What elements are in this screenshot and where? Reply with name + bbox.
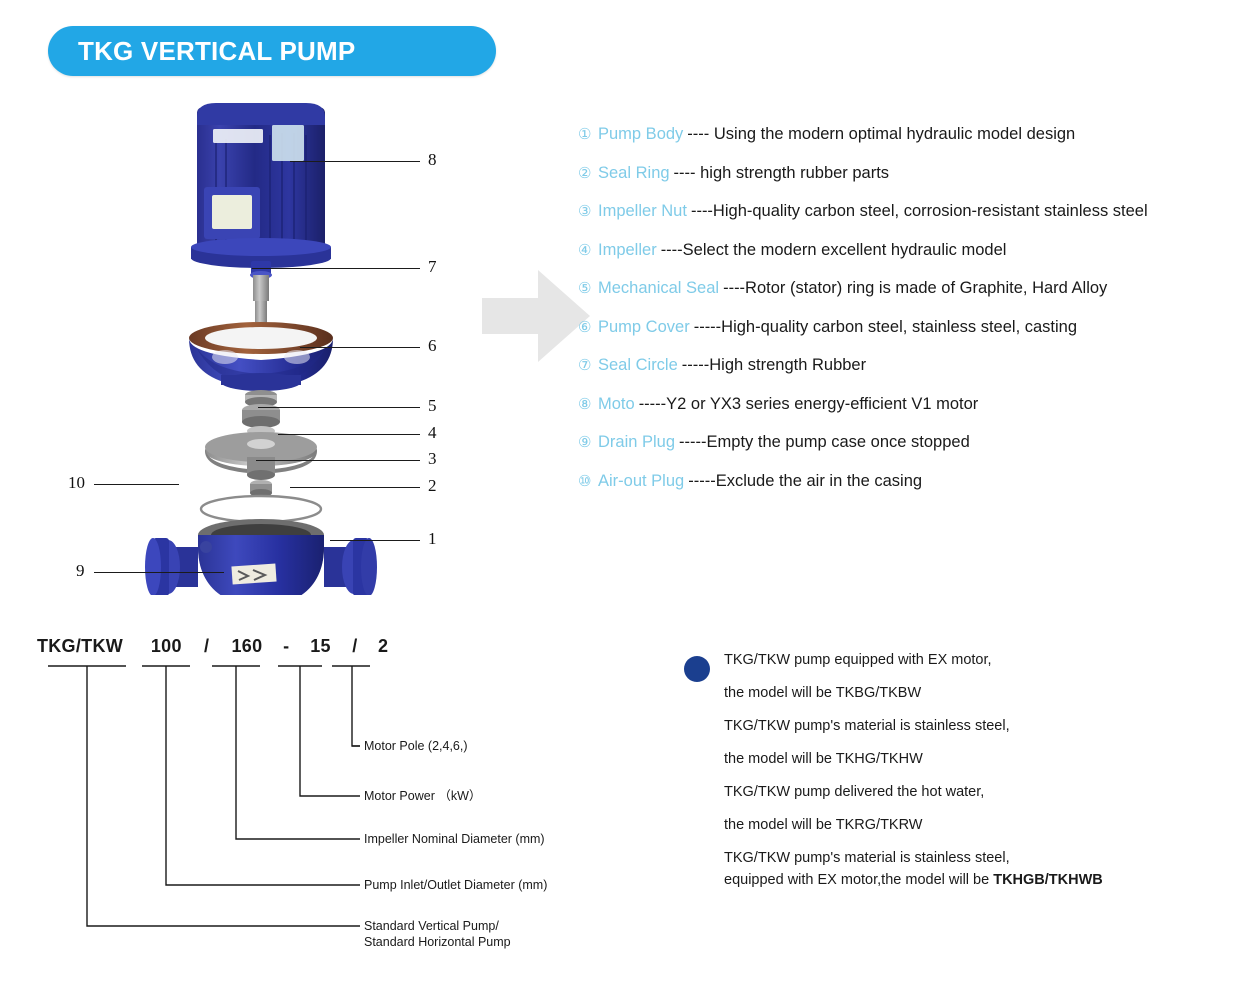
pump-cover-part [189, 322, 333, 391]
note-line-2: the model will be TKBG/TKBW [724, 685, 1214, 701]
note-line-3: TKG/TKW pump's material is stainless ste… [724, 718, 1214, 734]
callout-leader-10 [94, 484, 179, 485]
legend-item-7: ⑦ Seal Circle -----High strength Rubber [578, 355, 1218, 376]
model-desc-motor-power: Motor Power （kW） [364, 788, 481, 804]
legend-part-name-8: Moto [598, 394, 635, 414]
legend-part-name-7: Seal Circle [598, 355, 678, 375]
legend-item-6: ⑥ Pump Cover -----High-quality carbon st… [578, 317, 1218, 338]
legend-description-3: ----High-quality carbon steel, corrosion… [691, 201, 1148, 221]
legend-part-name-10: Air-out Plug [598, 471, 684, 491]
note-line-5: TKG/TKW pump delivered the hot water, [724, 784, 1214, 800]
legend-description-7: -----High strength Rubber [682, 355, 866, 375]
legend-part-name-3: Impeller Nut [598, 201, 687, 221]
mechanical-seal-part [242, 390, 280, 436]
callout-leader-2 [290, 487, 420, 488]
legend-description-5: ----Rotor (stator) ring is made of Graph… [723, 278, 1107, 298]
legend-number-icon-7: ⑦ [578, 356, 598, 376]
legend-description-9: -----Empty the pump case once stopped [679, 432, 970, 452]
legend-number-icon-2: ② [578, 164, 598, 184]
product-spec-page: TKG VERTICAL PUMP [0, 0, 1234, 1000]
legend-item-8: ⑧ Moto -----Y2 or YX3 series energy-effi… [578, 394, 1218, 415]
legend-item-9: ⑨ Drain Plug -----Empty the pump case on… [578, 432, 1218, 453]
pump-body-part [145, 519, 377, 595]
variant-notes-block: TKG/TKW pump equipped with EX motor, the… [684, 652, 1214, 905]
callout-number-8: 8 [428, 150, 437, 170]
legend-number-icon-1: ① [578, 125, 598, 145]
legend-number-icon-8: ⑧ [578, 395, 598, 415]
callout-leader-9 [94, 572, 224, 573]
impeller-nut-part [250, 480, 272, 497]
note-line-7: TKG/TKW pump's material is stainless ste… [724, 850, 1214, 866]
callout-leader-4 [278, 434, 420, 435]
legend-part-name-5: Mechanical Seal [598, 278, 719, 298]
note-line-8-model: TKHGB/TKHWB [993, 872, 1103, 888]
legend-part-name-2: Seal Ring [598, 163, 670, 183]
note-line-8-text: equipped with EX motor,the model will be [724, 872, 993, 888]
callout-leader-5 [258, 407, 420, 408]
legend-description-10: -----Exclude the air in the casing [688, 471, 922, 491]
legend-item-4: ④ Impeller ----Select the modern excelle… [578, 240, 1218, 261]
variant-notes-lines: TKG/TKW pump equipped with EX motor, the… [724, 652, 1214, 888]
legend-description-1: ---- Using the modern optimal hydraulic … [687, 124, 1075, 144]
model-desc-pump-type-2: Standard Horizontal Pump [364, 934, 511, 950]
right-arrow-icon [482, 262, 592, 370]
callout-leader-7 [252, 268, 420, 269]
bullet-point-icon [684, 656, 710, 682]
note-line-1: TKG/TKW pump equipped with EX motor, [724, 652, 1214, 668]
legend-description-6: -----High-quality carbon steel, stainles… [694, 317, 1077, 337]
legend-item-3: ③ Impeller Nut ----High-quality carbon s… [578, 201, 1218, 222]
callout-number-4: 4 [428, 423, 437, 443]
seal-ring-part [201, 496, 321, 522]
model-desc-port-dia: Pump Inlet/Outlet Diameter (mm) [364, 877, 547, 893]
page-title: TKG VERTICAL PUMP [78, 36, 355, 67]
model-desc-impeller-dia: Impeller Nominal Diameter (mm) [364, 831, 545, 847]
legend-number-icon-5: ⑤ [578, 279, 598, 299]
legend-item-1: ① Pump Body ---- Using the modern optima… [578, 124, 1218, 145]
callout-leader-6 [300, 347, 420, 348]
callout-leader-3 [256, 460, 420, 461]
callout-number-2: 2 [428, 476, 437, 496]
legend-part-name-6: Pump Cover [598, 317, 690, 337]
legend-number-icon-10: ⑩ [578, 472, 598, 492]
legend-description-8: -----Y2 or YX3 series energy-efficient V… [639, 394, 979, 414]
note-line-8: equipped with EX motor,the model will be… [724, 872, 1214, 888]
model-desc-motor-pole: Motor Pole (2,4,6,) [364, 738, 468, 754]
model-leader-lines [30, 636, 590, 956]
impeller-part [205, 432, 317, 480]
legend-part-name-4: Impeller [598, 240, 657, 260]
note-line-6: the model will be TKRG/TKRW [724, 817, 1214, 833]
callout-number-1: 1 [428, 529, 437, 549]
callout-number-3: 3 [428, 449, 437, 469]
model-desc-pump-type-1: Standard Vertical Pump/ [364, 918, 499, 934]
legend-part-name-1: Pump Body [598, 124, 683, 144]
legend-description-4: ----Select the modern excellent hydrauli… [661, 240, 1007, 260]
callout-leader-1 [330, 540, 420, 541]
callout-leader-8 [290, 161, 420, 162]
note-line-4: the model will be TKHG/TKHW [724, 751, 1214, 767]
legend-item-2: ② Seal Ring ---- high strength rubber pa… [578, 163, 1218, 184]
callout-number-5: 5 [428, 396, 437, 416]
motor-part [191, 103, 331, 268]
legend-item-5: ⑤ Mechanical Seal ----Rotor (stator) rin… [578, 278, 1218, 299]
legend-number-icon-9: ⑨ [578, 433, 598, 453]
model-designation-diagram: TKG/TKW 100 / 160 - 15 / 2 [30, 636, 590, 956]
callout-number-7: 7 [428, 257, 437, 277]
legend-number-icon-3: ③ [578, 202, 598, 222]
parts-legend: ① Pump Body ---- Using the modern optima… [578, 124, 1218, 509]
callout-number-10: 10 [68, 473, 85, 493]
legend-number-icon-4: ④ [578, 241, 598, 261]
legend-number-icon-6: ⑥ [578, 318, 598, 338]
legend-description-2: ---- high strength rubber parts [674, 163, 890, 183]
callout-number-9: 9 [76, 561, 85, 581]
legend-item-10: ⑩ Air-out Plug -----Exclude the air in t… [578, 471, 1218, 492]
callout-number-6: 6 [428, 336, 437, 356]
legend-part-name-9: Drain Plug [598, 432, 675, 452]
exploded-pump-illustration [120, 95, 450, 595]
page-title-banner: TKG VERTICAL PUMP [48, 26, 496, 76]
